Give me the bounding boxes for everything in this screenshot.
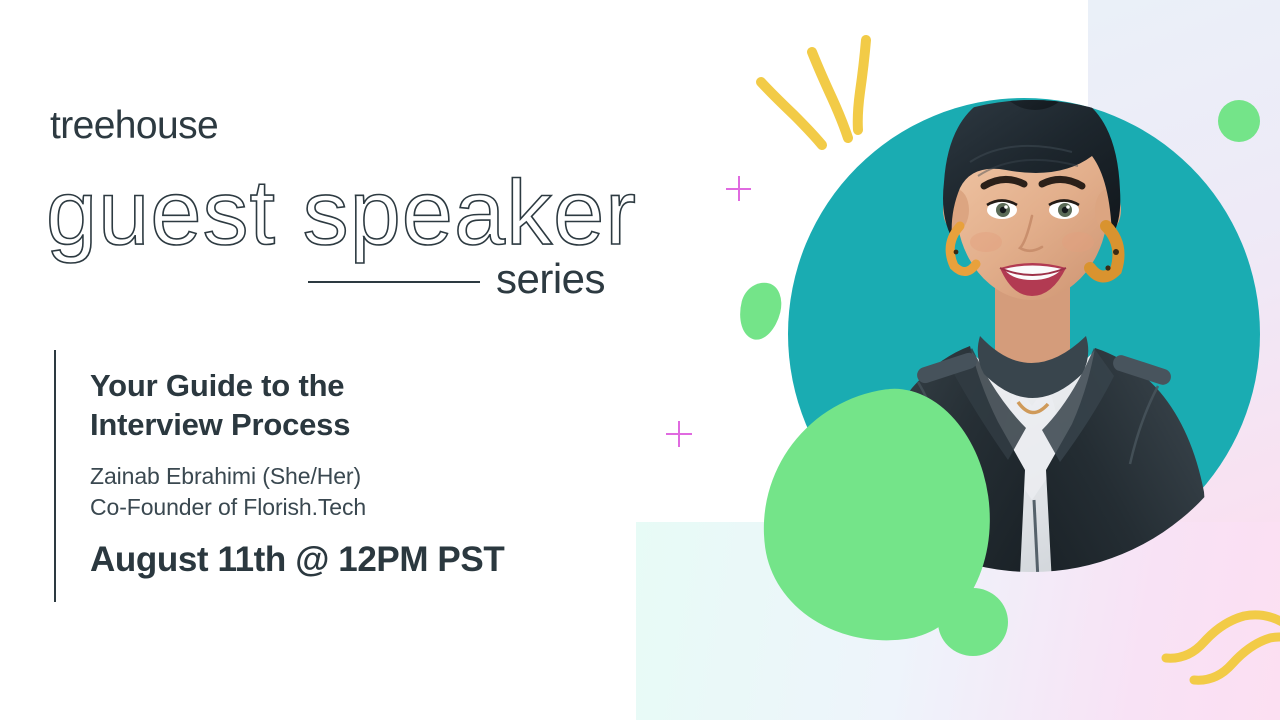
speaker-block: Zainab Ebrahimi (She/Her) Co-Founder of … <box>90 461 630 523</box>
magenta-plus-icon-middle <box>666 421 692 447</box>
yellow-sparkle-marks <box>740 30 900 190</box>
session-details: Your Guide to the Interview Process Zain… <box>90 366 630 579</box>
session-title-line2: Interview Process <box>90 407 350 442</box>
yellow-squiggle-marks <box>1160 588 1280 708</box>
left-accent-rule <box>54 350 56 602</box>
brand-wordmark: treehouse <box>50 106 218 145</box>
svg-text:guest speaker: guest speaker <box>46 162 637 264</box>
session-title-line1: Your Guide to the <box>90 368 344 403</box>
session-title: Your Guide to the Interview Process <box>90 366 630 445</box>
session-datetime: August 11th @ 12PM PST <box>90 541 630 580</box>
promo-slide: treehouse guest speaker series Your Guid… <box>0 0 1280 720</box>
speaker-role: Co-Founder of Florish.Tech <box>90 492 630 523</box>
series-divider-rule <box>308 281 480 283</box>
series-label: series <box>496 258 605 300</box>
green-blob-small-left <box>734 278 787 344</box>
speaker-name: Zainab Ebrahimi (She/Her) <box>90 461 630 492</box>
magenta-plus-icon-top <box>726 176 751 201</box>
green-dot-bottom <box>938 588 1008 656</box>
